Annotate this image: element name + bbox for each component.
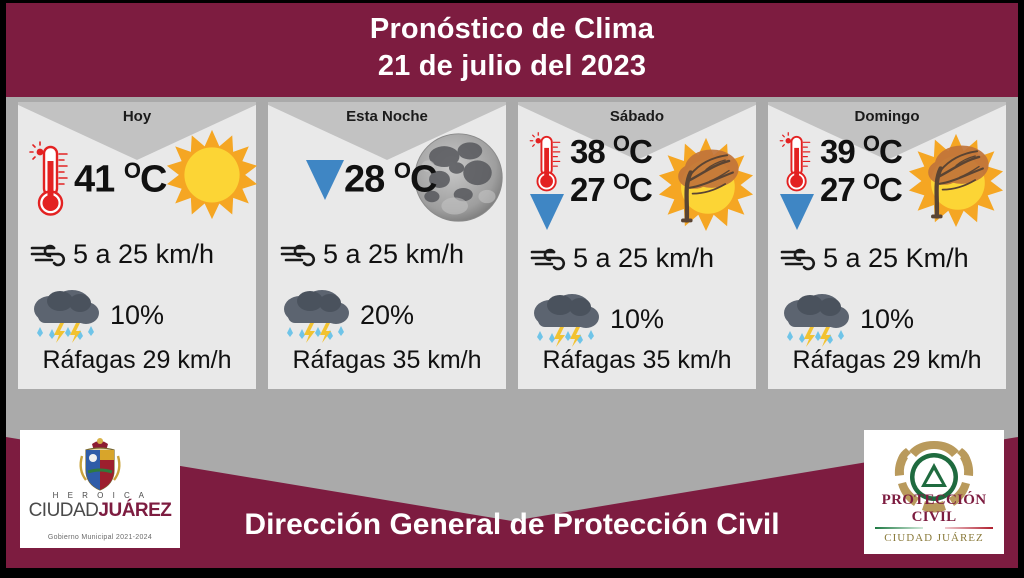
temperature-row: 39 OC 27 OC [776, 132, 902, 228]
temp-low-value: 27 OC [820, 170, 902, 208]
wind-row: 5 a 25 km/h [280, 234, 464, 274]
forecast-card-esta-noche[interactable]: Esta Noche 28 OC [268, 102, 506, 389]
gusts-value: Ráfagas 29 km/h [768, 346, 1006, 375]
wind-value: 5 a 25 km/h [323, 239, 464, 270]
day-label: Domingo [768, 108, 1006, 125]
temp-high-value: 38 OC [570, 132, 652, 170]
sun-windy-tree-icon [658, 136, 754, 232]
title-line-2: 21 de julio del 2023 [6, 48, 1018, 85]
rain-row: 20% [280, 284, 414, 346]
low-temp-triangle-icon [530, 194, 564, 230]
low-temp-triangle-icon [780, 194, 814, 230]
rain-value: 20% [360, 300, 414, 331]
wind-row: 5 a 25 km/h [30, 234, 214, 274]
rain-row: 10% [30, 284, 164, 346]
thermometer-icon [526, 132, 568, 194]
logo-city-name: CIUDADJUÁREZ [20, 500, 180, 522]
thunderstorm-cloud-icon [30, 287, 100, 343]
temperature-row: 28 OC [306, 138, 436, 222]
page-title: Pronóstico de Clima 21 de julio del 2023 [6, 11, 1018, 85]
rain-row: 10% [530, 288, 664, 350]
gusts-value: Ráfagas 35 km/h [518, 346, 756, 375]
thunderstorm-cloud-icon [280, 287, 350, 343]
temp-high-value: 39 OC [820, 132, 902, 170]
wind-value: 5 a 25 Km/h [823, 243, 969, 274]
forecast-cards: Hoy [6, 102, 1018, 394]
day-label: Hoy [18, 108, 256, 125]
thermometer-icon [28, 141, 74, 219]
rain-value: 10% [110, 300, 164, 331]
logo-heroica-text: H E R O I C A [20, 491, 180, 500]
gusts-value: Ráfagas 29 km/h [18, 346, 256, 375]
rain-row: 10% [780, 288, 914, 350]
logo-ciudad-juarez[interactable]: H E R O I C A CIUDADJUÁREZ Gobierno Muni… [20, 430, 180, 548]
coat-of-arms-icon [72, 436, 128, 494]
gusts-value: Ráfagas 35 km/h [268, 346, 506, 375]
sun-windy-tree-icon [908, 132, 1004, 228]
wind-icon [280, 240, 320, 268]
logo-subtitle: Gobierno Municipal 2021-2024 [20, 534, 180, 541]
day-label: Sábado [518, 108, 756, 125]
wind-icon [780, 244, 820, 272]
rain-value: 10% [610, 304, 664, 335]
temp-low-value: 27 OC [570, 170, 652, 208]
rain-value: 10% [860, 304, 914, 335]
logo-rule-green [875, 527, 923, 529]
wind-icon [530, 244, 570, 272]
logo-rule-red [945, 527, 993, 529]
temperature-row: 38 OC 27 OC [526, 132, 652, 228]
thunderstorm-cloud-icon [780, 291, 850, 347]
wind-row: 5 a 25 km/h [530, 238, 714, 278]
temp-high-value: 41 OC [74, 159, 166, 201]
title-line-1: Pronóstico de Clima [6, 11, 1018, 48]
logo-proteccion-civil[interactable]: PROTECCIÓN CIVIL CIUDAD JUÁREZ [864, 430, 1004, 554]
low-temp-triangle-icon [306, 160, 344, 200]
logo-pc-name: PROTECCIÓN CIVIL [864, 492, 1004, 526]
thunderstorm-cloud-icon [530, 291, 600, 347]
day-label: Esta Noche [268, 108, 506, 125]
wind-icon [30, 240, 70, 268]
thermometer-icon [776, 132, 818, 194]
wind-value: 5 a 25 km/h [73, 239, 214, 270]
wind-value: 5 a 25 km/h [573, 243, 714, 274]
weather-forecast-poster: Pronóstico de Clima 21 de julio del 2023… [0, 0, 1024, 578]
sun-icon [166, 128, 258, 220]
forecast-card-domingo[interactable]: Domingo [768, 102, 1006, 389]
temperature-row: 41 OC [28, 138, 166, 222]
logo-pc-subtitle: CIUDAD JUÁREZ [864, 532, 1004, 544]
temp-low-value: 28 OC [344, 159, 436, 201]
forecast-card-sabado[interactable]: Sábado [518, 102, 756, 389]
wind-row: 5 a 25 Km/h [780, 238, 969, 278]
forecast-card-hoy[interactable]: Hoy [18, 102, 256, 389]
